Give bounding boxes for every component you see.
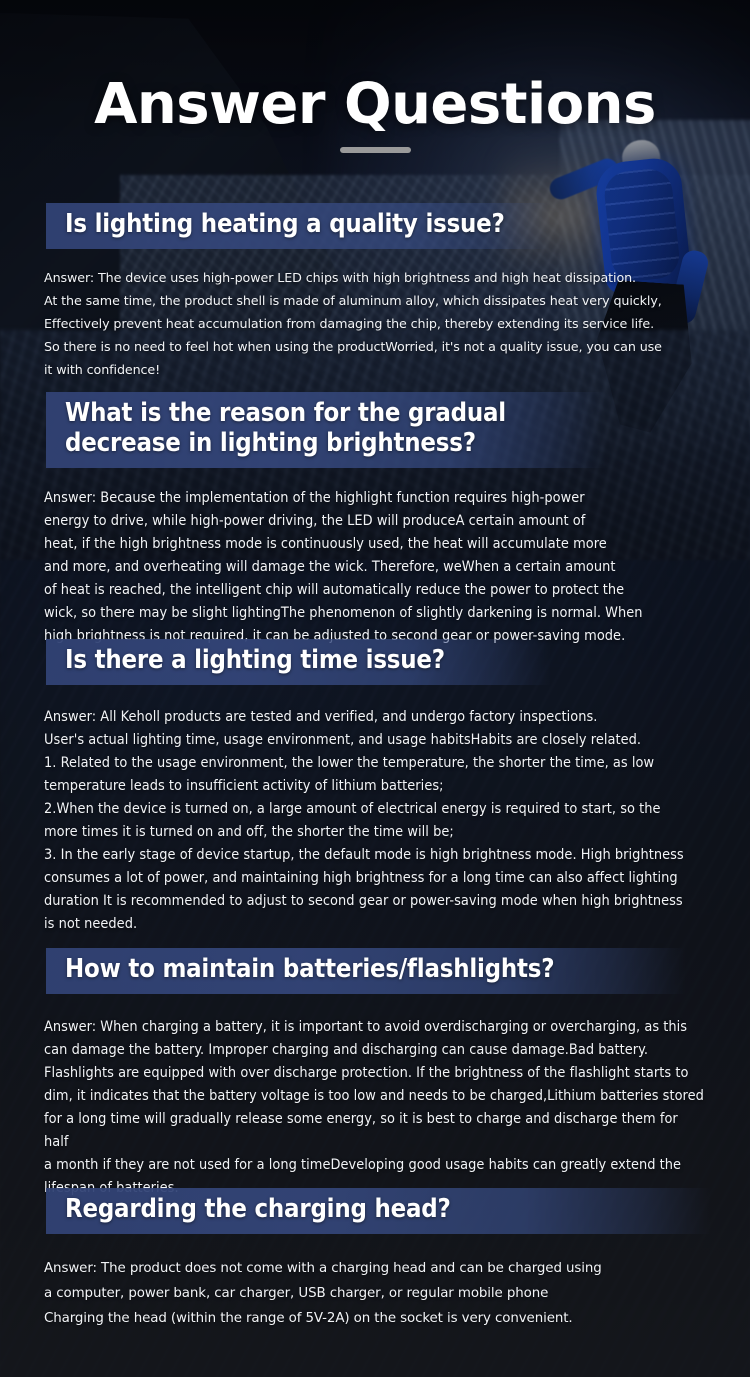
faq-question-5[interactable]: Regarding the charging head? xyxy=(46,1188,711,1234)
faq-page: Answer Questions Is lighting heating a q… xyxy=(0,0,750,1377)
faq-question-2[interactable]: What is the reason for the gradual decre… xyxy=(46,392,606,468)
faq-question-1[interactable]: Is lighting heating a quality issue? xyxy=(46,203,551,249)
title-divider xyxy=(340,147,411,153)
faq-item-lighting-heating-quality: Is lighting heating a quality issue? Ans… xyxy=(0,203,750,381)
faq-question-3[interactable]: Is there a lighting time issue? xyxy=(46,639,551,685)
page-title: Answer Questions xyxy=(0,72,750,137)
faq-item-gradual-brightness-decrease: What is the reason for the gradual decre… xyxy=(0,392,750,648)
faq-answer-3: Answer: All Keholl products are tested a… xyxy=(44,706,704,936)
faq-answer-2: Answer: Because the implementation of th… xyxy=(44,487,704,648)
faq-answer-5: Answer: The product does not come with a… xyxy=(44,1256,704,1331)
faq-item-charging-head: Regarding the charging head? Answer: The… xyxy=(0,1188,750,1331)
faq-answer-1: Answer: The device uses high-power LED c… xyxy=(44,266,704,381)
faq-item-maintain-batteries-flashlights: How to maintain batteries/flashlights? A… xyxy=(0,948,750,1200)
faq-answer-4: Answer: When charging a battery, it is i… xyxy=(44,1016,704,1200)
faq-item-lighting-time-issue: Is there a lighting time issue? Answer: … xyxy=(0,639,750,936)
faq-question-4[interactable]: How to maintain batteries/flashlights? xyxy=(46,948,686,994)
